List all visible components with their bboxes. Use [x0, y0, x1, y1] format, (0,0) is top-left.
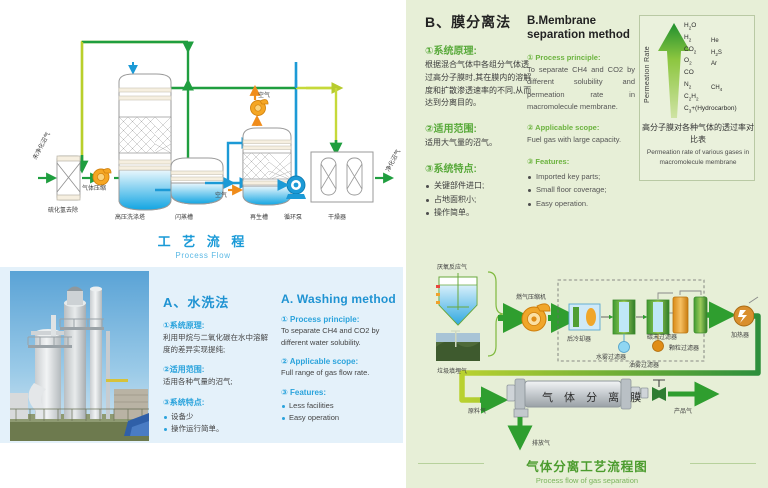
plant-photo [10, 271, 149, 441]
membrane-heading-cn: B、膜分离法 [425, 12, 535, 32]
label-aftercooler: 后冷却器 [567, 335, 591, 343]
membrane-method-en: B.Membrane separation method ① Process p… [527, 14, 635, 210]
dryer-unit [311, 152, 373, 202]
list-item: Imported key parts; [527, 170, 635, 184]
label-heater: 加热器 [731, 331, 749, 339]
oil-mist-filter-icon [647, 300, 669, 352]
gas-separation-diagram: 厌氧反应气 垃圾填埋气 燃气压缩机 后冷却器 水雾过滤器 油雾过滤器 碳末过滤器… [406, 255, 768, 488]
membrane-s1-title-cn: ①系统原理: [425, 42, 535, 57]
label-dryer: 干燥器 [328, 213, 346, 221]
membrane-s3-title-en: ③ Features: [527, 157, 635, 166]
list-item: 占地面积小; [425, 193, 535, 207]
list-item: 操作简单。 [425, 206, 535, 220]
membrane-s2-title-cn: ②适用范围: [425, 120, 535, 135]
label-compressor: 气体压缩 [82, 184, 106, 192]
membrane-s2-title-en: ② Applicable scope: [527, 123, 635, 132]
label-outlet-gas: 净化沼气 [384, 148, 402, 173]
list-item: N2CH4 [684, 81, 756, 93]
anaerobic-digester-icon [436, 273, 477, 325]
washing-s3-title-en: ③ Features: [281, 388, 403, 397]
washing-heading-en: A. Washing method [281, 292, 403, 306]
washing-s1-body-en: To separate CH4 and CO2 by different wat… [281, 325, 403, 348]
permeation-gas-list: H2O H2He CO2H2S O2Ar CO N2CH4 C2H2 C3+(H… [684, 22, 756, 116]
washing-heading-cn: A、水洗法 [163, 292, 275, 311]
label-carbon-filter: 碳末过滤器 [647, 333, 677, 341]
gas-separation-title-cn: 气体分离工艺流程图 [406, 456, 768, 475]
label-regenerator: 再生槽 [250, 213, 268, 221]
washing-s2-body-en: Full range of gas flow rate. [281, 367, 403, 379]
list-item: Easy operation. [527, 197, 635, 211]
label-feed-gas: 原料气 [468, 407, 486, 415]
gas-compressor-blower [93, 169, 111, 185]
list-item: CO2H2S [684, 46, 756, 58]
air-blower [251, 100, 269, 116]
label-membrane: 气 体 分 离 膜 [542, 390, 645, 404]
washing-method-en: A. Washing method ① Process principle: T… [281, 292, 403, 424]
carbon-filter-icon [673, 297, 688, 333]
membrane-s1-body-cn: 根据混合气体中各组分气体透过高分子膜时,其在膜内的溶解度和扩散渗透速率的不同,从… [425, 59, 535, 110]
membrane-s2-body-cn: 适用大气量的沼气。 [425, 137, 535, 150]
label-water-mist-filter: 水雾过滤器 [596, 353, 626, 361]
label-particle-filter: 颗粒过滤器 [669, 344, 699, 352]
permeation-caption: 高分子膜对各种气体的透过率对比表 Permeation rate of vari… [640, 122, 756, 167]
permeation-caption-en: Permeation rate of various gases in macr… [640, 148, 756, 167]
label-air-mid: 空气 [215, 191, 227, 199]
label-inlet-gas: 未净化沼气 [31, 131, 52, 161]
process-flow-title: 工 艺 流 程 Process Flow [0, 231, 406, 260]
label-digester-gas: 厌氧反应气 [437, 263, 467, 271]
particle-filter-icon [694, 297, 707, 333]
list-item: O2Ar [684, 57, 756, 69]
membrane-s1-body-en: To separate CH4 and CO2 by different sol… [527, 64, 635, 114]
label-absorber: 高压洗涤塔 [115, 213, 145, 221]
poster-page: 未净化沼气 硫化氢去除 气体压缩 高压洗涤塔 闪蒸槽 再生槽 循环泵 干燥器 空… [0, 0, 768, 488]
desulfurizer-vessel [57, 156, 80, 200]
label-desulfurizer: 硫化氢去除 [48, 206, 78, 214]
permeation-rate-chart: Permeation Rate H2O H2He CO2H2S O2Ar CO … [639, 15, 755, 181]
heater-icon [734, 297, 758, 326]
label-landfill-gas: 垃圾填埋气 [437, 367, 467, 375]
gas-separation-title: 气体分离工艺流程图 Process flow of gas separation [406, 456, 768, 485]
list-item: Easy operation [281, 412, 403, 424]
membrane-s3-title-cn: ③系统特点: [425, 160, 535, 175]
list-item: 关键部件进口; [425, 179, 535, 193]
washing-s1-title-cn: ①系统原理: [163, 320, 275, 331]
membrane-method-cn: B、膜分离法 ①系统原理: 根据混合气体中各组分气体透过高分子膜时,其在膜内的溶… [425, 12, 535, 220]
list-item: 操作运行简单。 [163, 423, 275, 435]
aftercooler-icon [569, 304, 600, 330]
washing-s1-title-en: ① Process principle: [281, 315, 403, 324]
washing-s1-body-cn: 利用甲烷与二氧化碳在水中溶解度的差异实现提纯; [163, 332, 275, 355]
process-flow-title-cn: 工 艺 流 程 [0, 231, 406, 250]
label-product-gas: 产品气 [674, 407, 692, 415]
gas-separation-title-en: Process flow of gas separation [406, 476, 768, 485]
label-oil-mist-filter: 油雾过滤器 [629, 361, 659, 369]
circulation-pump [286, 176, 306, 199]
membrane-s1-title-en: ① Process principle: [527, 53, 635, 62]
process-flow-title-en: Process Flow [0, 251, 406, 260]
permeation-axis-label: Permeation Rate [644, 46, 651, 103]
list-item: CO [684, 69, 756, 81]
washing-s2-title-cn: ②适用范围: [163, 364, 275, 375]
gas-compressor-icon [522, 304, 550, 331]
valve-icon [652, 380, 666, 401]
label-vent-gas: 排放气 [532, 439, 550, 447]
list-item: 设备少 [163, 411, 275, 423]
water-mist-filter-icon [613, 300, 635, 353]
permeation-caption-cn: 高分子膜对各种气体的透过率对比表 [640, 122, 756, 145]
label-flash-tank: 闪蒸槽 [175, 213, 193, 221]
membrane-heading-en: B.Membrane separation method [527, 14, 635, 43]
process-flow-diagram: 未净化沼气 硫化氢去除 气体压缩 高压洗涤塔 闪蒸槽 再生槽 循环泵 干燥器 空… [0, 0, 406, 267]
list-item: C2H2 [684, 93, 756, 105]
regenerator-column [243, 128, 291, 205]
label-air-top: 空气 [258, 91, 270, 99]
washing-s2-body-cn: 适用各种气量的沼气; [163, 376, 275, 388]
membrane-s2-body-en: Fuel gas with large capacity. [527, 134, 635, 146]
landfill-photo-icon [436, 331, 480, 361]
list-item: Small floor coverage; [527, 183, 635, 197]
washing-s2-title-en: ② Applicable scope: [281, 357, 403, 366]
list-item: C3+(Hydrocarbon) [684, 105, 756, 117]
washing-s3-title-cn: ③系统特点: [163, 397, 275, 408]
list-item: Less facilities [281, 400, 403, 412]
label-gas-compressor: 燃气压缩机 [516, 293, 546, 301]
list-item: H2O [684, 22, 756, 34]
list-item: H2He [684, 34, 756, 46]
label-pump: 循环泵 [284, 213, 302, 221]
washing-method-cn: A、水洗法 ①系统原理: 利用甲烷与二氧化碳在水中溶解度的差异实现提纯; ②适用… [163, 292, 275, 435]
